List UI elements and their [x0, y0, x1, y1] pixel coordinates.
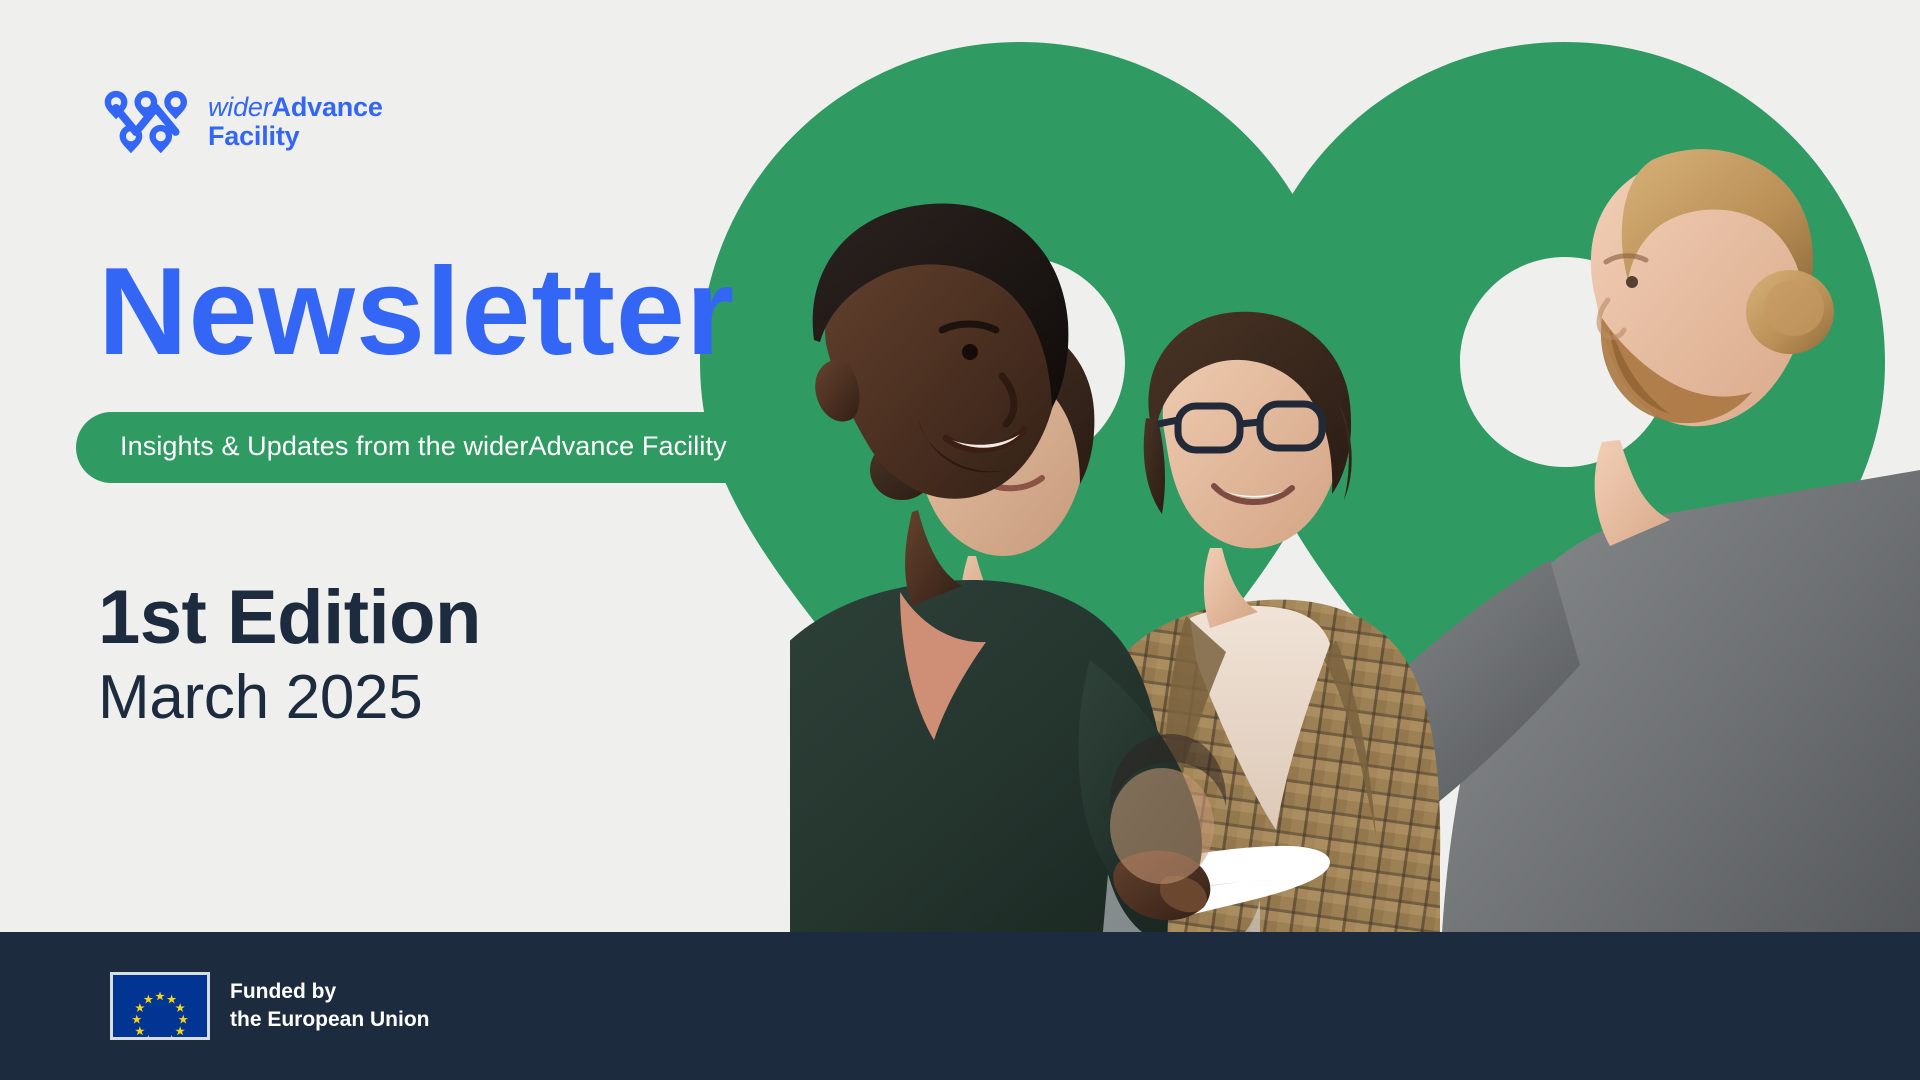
funding-line-2: the European Union	[230, 1006, 430, 1034]
eu-funding-block: Funded by the European Union	[110, 972, 430, 1040]
newsletter-cover: Funded by the European Union	[0, 0, 1920, 1080]
wider-advance-pin-w-mark-icon	[104, 88, 192, 156]
logo-wordmark-facility: Facility	[208, 122, 383, 151]
people-conversation-photo	[790, 0, 1920, 1080]
funding-footer: Funded by the European Union	[0, 932, 1920, 1080]
edition-block: 1st Edition March 2025	[98, 578, 481, 733]
wider-advance-facility-logo[interactable]: widerAdvance Facility	[104, 88, 383, 156]
logo-wordmark: widerAdvance Facility	[208, 93, 383, 150]
logo-wordmark-advance: Advance	[272, 92, 383, 122]
edition-date: March 2025	[98, 662, 481, 733]
funding-line-1: Funded by	[230, 978, 430, 1006]
edition-number: 1st Edition	[98, 578, 481, 658]
funding-statement: Funded by the European Union	[230, 978, 430, 1033]
european-union-flag-icon	[110, 972, 210, 1040]
subtitle-pill: Insights & Updates from the widerAdvance…	[76, 412, 771, 483]
page-title: Newsletter	[98, 250, 735, 374]
logo-wordmark-wider: wider	[208, 92, 272, 122]
